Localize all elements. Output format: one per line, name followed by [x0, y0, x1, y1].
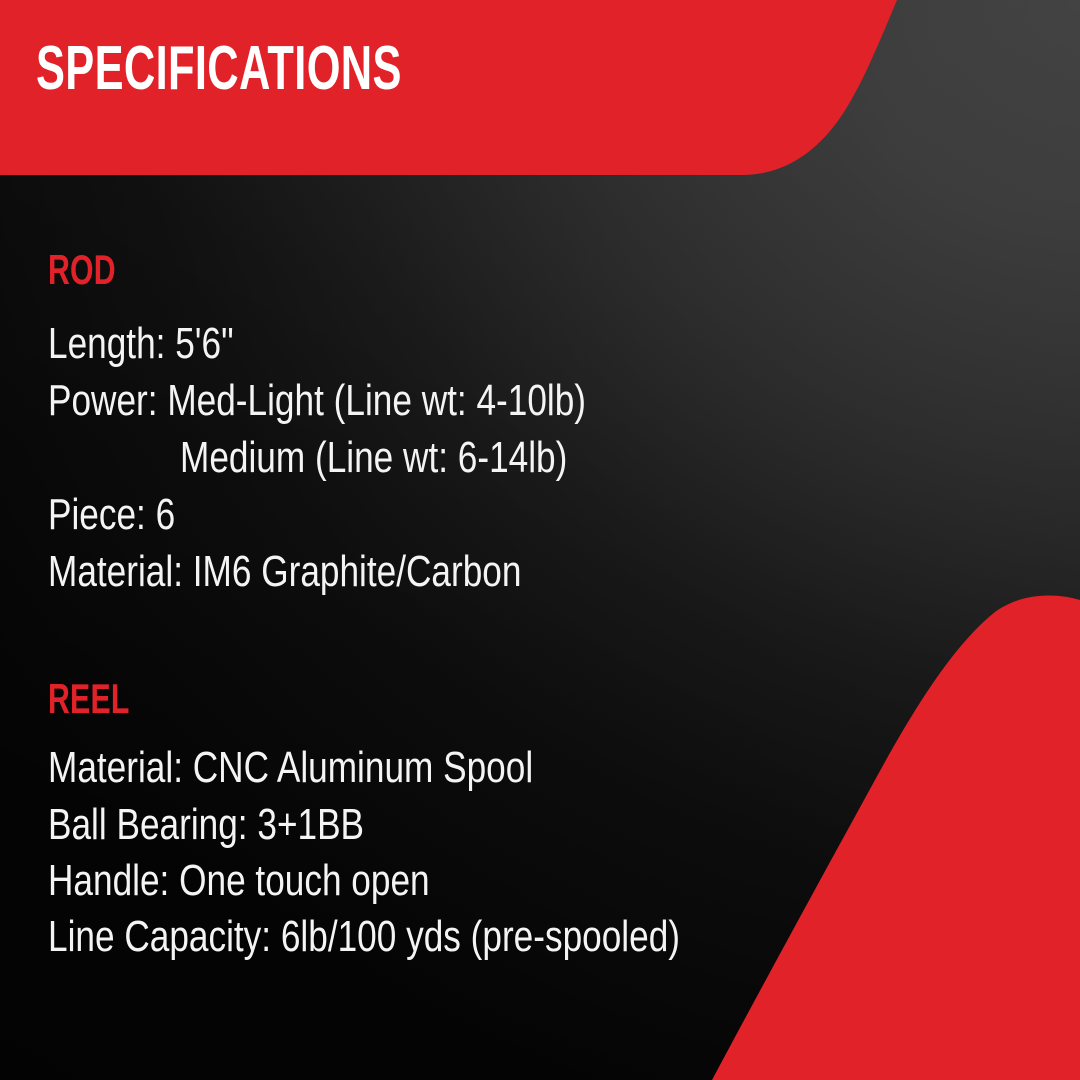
- spec-rod-length: Length: 5'6": [48, 322, 234, 366]
- spec-reel-line-capacity: Line Capacity: 6lb/100 yds (pre-spooled): [48, 915, 680, 959]
- spec-rod-power: Power: Med-Light (Line wt: 4-10lb): [48, 379, 586, 423]
- spec-rod-power-medium: Medium (Line wt: 6-14lb): [180, 436, 567, 480]
- spec-reel-ball-bearing: Ball Bearing: 3+1BB: [48, 803, 364, 847]
- section-heading-reel: REEL: [48, 678, 130, 720]
- section-heading-rod: ROD: [48, 249, 116, 291]
- specifications-card: SPECIFICATIONS ROD Length: 5'6" Power: M…: [0, 0, 1080, 1080]
- spec-rod-material: Material: IM6 Graphite/Carbon: [48, 550, 521, 594]
- spec-rod-piece: Piece: 6: [48, 493, 175, 537]
- spec-content: ROD Length: 5'6" Power: Med-Light (Line …: [0, 0, 1080, 1080]
- spec-reel-material: Material: CNC Aluminum Spool: [48, 746, 533, 790]
- spec-reel-handle: Handle: One touch open: [48, 859, 430, 903]
